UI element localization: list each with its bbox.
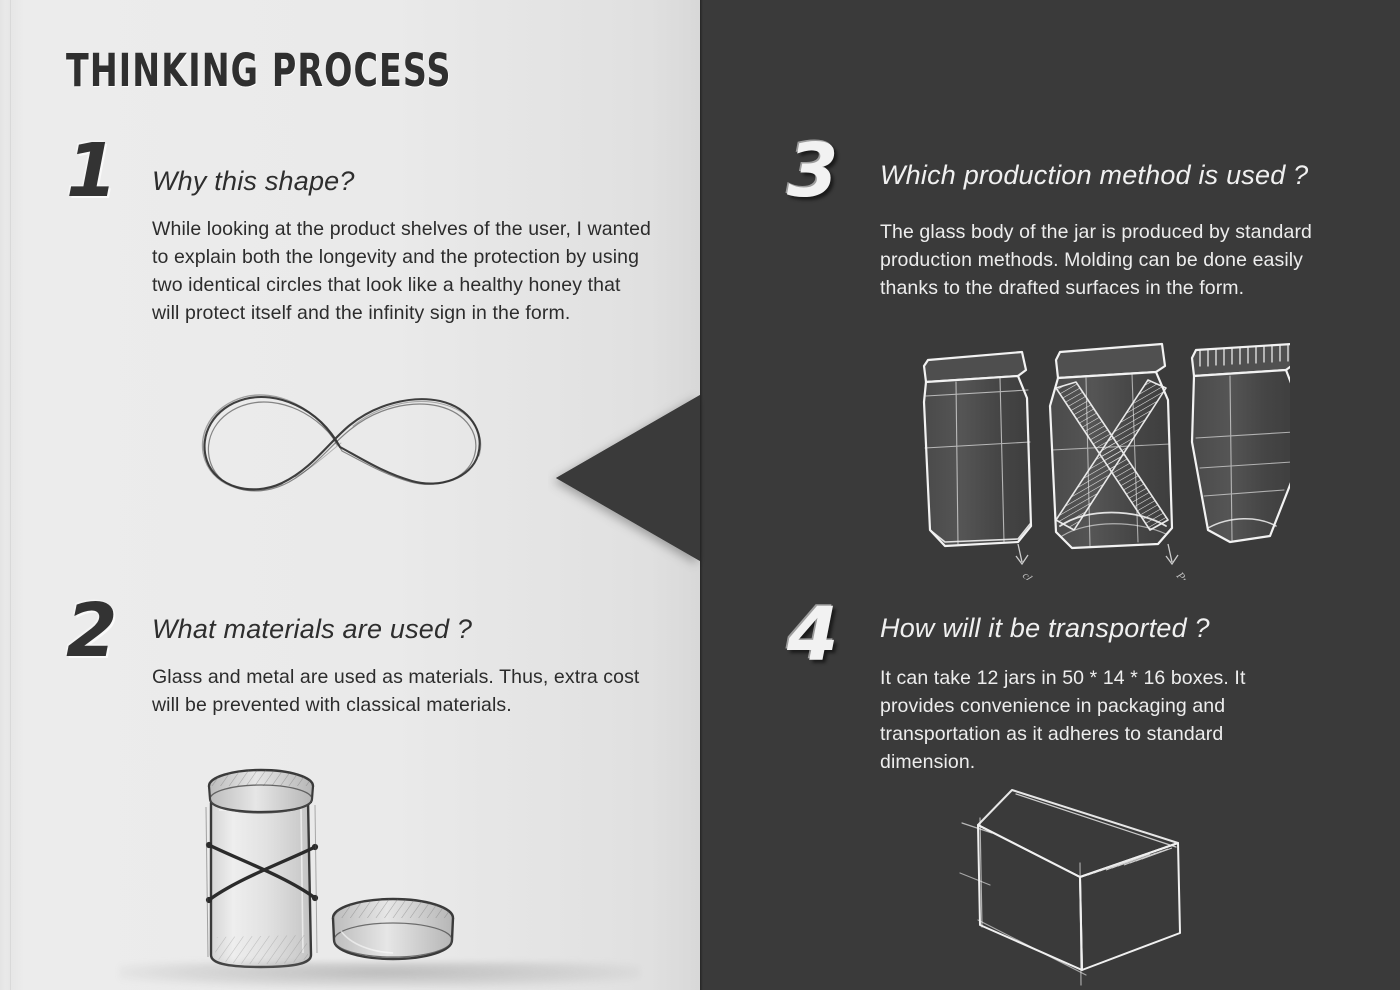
section-body-2: Glass and metal are used as materials. T… (152, 663, 672, 719)
thinking-process-board: THINKING PROCESS 1 Why this shape? While… (0, 0, 1400, 990)
three-jar-variants-sketch: classic Protector (900, 330, 1290, 580)
isometric-shipping-box-sketch (920, 785, 1310, 990)
section-body-1: While looking at the product shelves of … (152, 215, 652, 327)
annotation-classic: classic (1020, 570, 1049, 580)
section-body-3: The glass body of the jar is produced by… (880, 218, 1350, 302)
section-heading-2: What materials are used ? (152, 614, 472, 645)
glass-jar-with-lid-sketch (165, 755, 495, 990)
section-body-4: It can take 12 jars in 50 * 14 * 16 boxe… (880, 664, 1300, 776)
section-heading-3: Which production method is used ? (880, 160, 1308, 191)
section-heading-4: How will it be transported ? (880, 613, 1210, 644)
page-title: THINKING PROCESS (66, 44, 452, 97)
infinity-symbol-sketch (190, 385, 500, 505)
pointer-arrow (548, 385, 708, 575)
section-number-4: 4 (787, 598, 838, 672)
section-number-3: 3 (787, 134, 838, 208)
jar-ground-shadow (120, 962, 640, 988)
section-number-1: 1 (66, 134, 117, 208)
annotation-protector: Protector (1173, 569, 1211, 580)
section-number-2: 2 (66, 594, 117, 668)
section-heading-1: Why this shape? (152, 166, 355, 197)
